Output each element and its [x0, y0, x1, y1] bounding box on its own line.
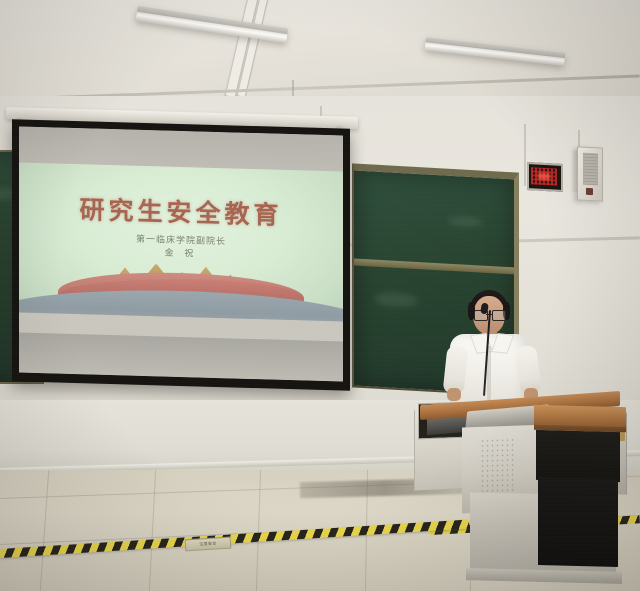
projection-screen-surface: 研究生安全教育 第一临床学院副院长 金 祝 [19, 126, 343, 381]
wall-seam-right [524, 124, 526, 186]
chalk-smudge [374, 292, 418, 308]
chalk-smudge [448, 216, 482, 228]
led-display [527, 162, 563, 192]
projected-slide: 研究生安全教育 第一临床学院副院长 金 祝 [19, 162, 343, 321]
projection-screen: 研究生安全教育 第一临床学院副院长 金 祝 [12, 119, 350, 390]
floor-grout-line [40, 470, 49, 591]
speaker-volume-knob[interactable] [586, 188, 593, 195]
fluorescent-light-right [425, 37, 566, 66]
speaker-grille-icon [583, 153, 598, 186]
lectern-foot [466, 568, 622, 584]
lectern-front-panel [536, 430, 620, 482]
floor-grout-line [149, 470, 156, 591]
screen-letterbox-bottom [19, 332, 343, 381]
lectern [414, 386, 626, 591]
lectern-perforated-panel [480, 437, 514, 500]
led-highlight [538, 173, 550, 181]
lecture-hall-photo: 研究生安全教育 第一临床学院副院长 金 祝 [0, 0, 640, 591]
slide-title: 研究生安全教育 [19, 188, 343, 233]
lectern-base-panel [538, 477, 618, 567]
glasses-lens-right [492, 310, 506, 321]
wall-speaker [577, 146, 603, 201]
chalk-rail [354, 258, 514, 274]
fluorescent-light-left [136, 6, 289, 43]
